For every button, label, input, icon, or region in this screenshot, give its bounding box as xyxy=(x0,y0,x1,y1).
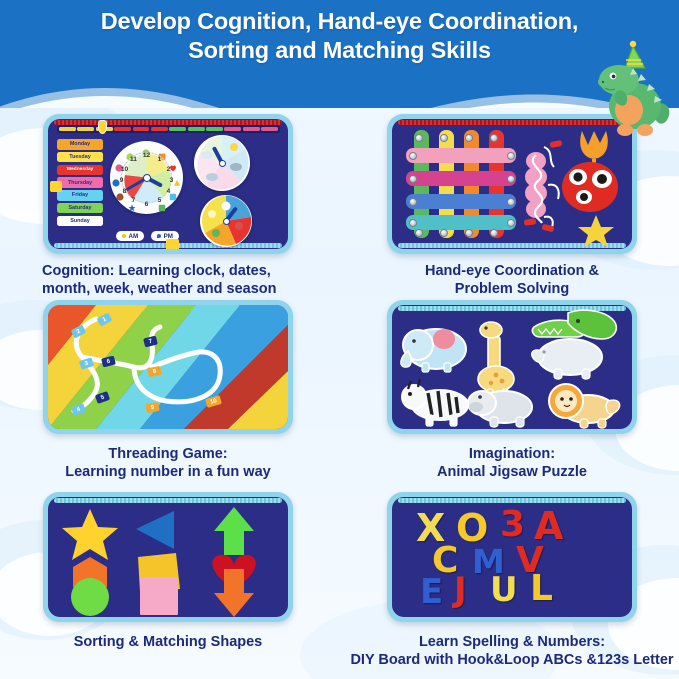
caption-sorting: Sorting & Matching Shapes xyxy=(28,634,308,652)
hippo-piece xyxy=(468,391,532,427)
rivet xyxy=(409,219,417,227)
clock-number-5: 5 xyxy=(155,197,164,204)
rivet xyxy=(409,198,417,206)
wave-divider xyxy=(0,78,679,108)
dinosaur-mascot-icon xyxy=(583,36,675,140)
caption-threading: Threading Game: Learning number in a fun… xyxy=(28,446,308,481)
clock-center-pin xyxy=(143,174,151,182)
rivet xyxy=(415,134,423,142)
shape-arrow-up xyxy=(214,507,254,555)
rivet xyxy=(415,229,423,237)
panel-threading: 1 2 3 4 5 6 7 8 9 10 Threading Game: Lea… xyxy=(28,300,308,481)
product-feature-infographic: Develop Cognition, Hand-eye Coordination… xyxy=(0,0,679,679)
headline-line-1: Develop Cognition, Hand-eye Coordination… xyxy=(101,8,578,34)
rivet xyxy=(465,134,473,142)
rivet xyxy=(465,229,473,237)
giraffe-piece xyxy=(478,322,514,401)
clock-number-9: 9 xyxy=(117,177,126,184)
day-slider-handle[interactable] xyxy=(50,181,62,192)
zebra-piece xyxy=(402,379,468,426)
weekday-column: Monday Tuesday Wednesday Thursday Friday… xyxy=(57,139,103,229)
moon-icon xyxy=(157,234,161,238)
clock-number-11: 11 xyxy=(129,156,138,163)
panel-imagination: Imagination: Animal Jigsaw Puzzle xyxy=(372,300,652,481)
elephant-piece xyxy=(401,329,466,372)
season-dial-pin xyxy=(223,218,230,225)
board-spelling: X O 3 A C M V E J U L xyxy=(387,492,637,622)
weather-dial[interactable] xyxy=(194,135,250,191)
headline-line-2: Sorting and Matching Skills xyxy=(0,36,679,65)
yellow-star-icon xyxy=(578,215,614,247)
caption-spelling: Learn Spelling & Numbers: DIY Board with… xyxy=(322,634,679,669)
clock-number-3: 3 xyxy=(167,177,176,184)
letter-tile-u[interactable]: U xyxy=(490,573,518,607)
am-label: AM xyxy=(129,233,139,240)
weekday-chip-tuesday[interactable]: Tuesday xyxy=(57,152,103,163)
slider-bar-horizontal-teal[interactable] xyxy=(406,215,516,230)
caption-cognition: Cognition: Learning clock, dates, month,… xyxy=(28,263,308,298)
season-dial[interactable] xyxy=(200,195,252,247)
shape-circle xyxy=(71,578,109,616)
slider-bar-horizontal-blue[interactable] xyxy=(406,194,516,209)
clock-number-4: 4 xyxy=(164,188,173,195)
clock-face[interactable]: 12 1 2 3 4 5 6 7 8 9 10 11 xyxy=(110,141,183,214)
red-crab-icon xyxy=(562,162,618,212)
slider-bar-horizontal-magenta[interactable] xyxy=(406,171,516,186)
lion-piece xyxy=(549,384,620,428)
board-imagination xyxy=(387,300,637,434)
weekday-chip-thursday[interactable]: Thursday xyxy=(57,177,103,188)
rivet xyxy=(507,152,515,160)
month-selector-bar[interactable] xyxy=(57,125,280,133)
shape-square-pink xyxy=(140,577,178,615)
board-threading: 1 2 3 4 5 6 7 8 9 10 xyxy=(43,300,293,434)
rivet xyxy=(409,175,417,183)
header-banner: Develop Cognition, Hand-eye Coordination… xyxy=(0,0,679,108)
rivet xyxy=(409,152,417,160)
rhino-white-piece xyxy=(532,339,602,379)
panel-cognition: Monday Tuesday Wednesday Thursday Friday… xyxy=(28,114,308,298)
weather-dial-pin xyxy=(219,160,226,167)
rivet xyxy=(440,229,448,237)
page-title: Develop Cognition, Hand-eye Coordination… xyxy=(0,0,679,65)
board-sorting xyxy=(43,492,293,622)
letter-tile-j[interactable]: J xyxy=(454,573,467,607)
weekday-chip-saturday[interactable]: Saturday xyxy=(57,203,103,214)
caption-hand-eye: Hand-eye Coordination & Problem Solving xyxy=(372,263,652,298)
panel-sorting: Sorting & Matching Shapes xyxy=(28,492,308,652)
board-cognition: Monday Tuesday Wednesday Thursday Friday… xyxy=(43,114,293,254)
clock-number-6: 6 xyxy=(142,201,151,208)
zipper-top xyxy=(398,498,626,503)
letter-tile-e[interactable]: E xyxy=(420,575,443,609)
clock-number-12: 12 xyxy=(142,152,151,159)
rivet xyxy=(490,134,498,142)
clock-number-7: 7 xyxy=(129,197,138,204)
rivet xyxy=(507,175,515,183)
month-slider-handle[interactable] xyxy=(98,120,107,134)
clock-number-1: 1 xyxy=(155,156,164,163)
letter-tile-l[interactable]: L xyxy=(530,571,553,607)
letter-tile-3[interactable]: 3 xyxy=(500,507,525,543)
panel-spelling: X O 3 A C M V E J U L Learn Spelling & N… xyxy=(372,492,652,669)
panel-hand-eye: Hand-eye Coordination & Problem Solving xyxy=(372,114,652,298)
shape-triangle xyxy=(136,511,174,549)
sun-icon xyxy=(122,234,126,238)
clock-number-2: 2 xyxy=(164,166,173,173)
weekday-chip-monday[interactable]: Monday xyxy=(57,139,103,150)
am-button[interactable]: AM xyxy=(116,231,144,241)
shape-star xyxy=(62,509,118,560)
crocodile-piece xyxy=(532,310,616,339)
rivet xyxy=(507,198,515,206)
weekday-chip-sunday[interactable]: Sunday xyxy=(57,216,103,227)
weekday-chip-wednesday[interactable]: Wednesday xyxy=(57,165,103,176)
caption-imagination: Imagination: Animal Jigsaw Puzzle xyxy=(372,446,652,481)
rivet xyxy=(490,229,498,237)
rivet xyxy=(440,134,448,142)
clock-number-10: 10 xyxy=(120,166,129,173)
zipper-pull[interactable] xyxy=(166,239,179,249)
weekday-chip-friday[interactable]: Friday xyxy=(57,190,103,201)
slider-bar-horizontal-pink[interactable] xyxy=(406,148,516,163)
rivet xyxy=(507,219,515,227)
